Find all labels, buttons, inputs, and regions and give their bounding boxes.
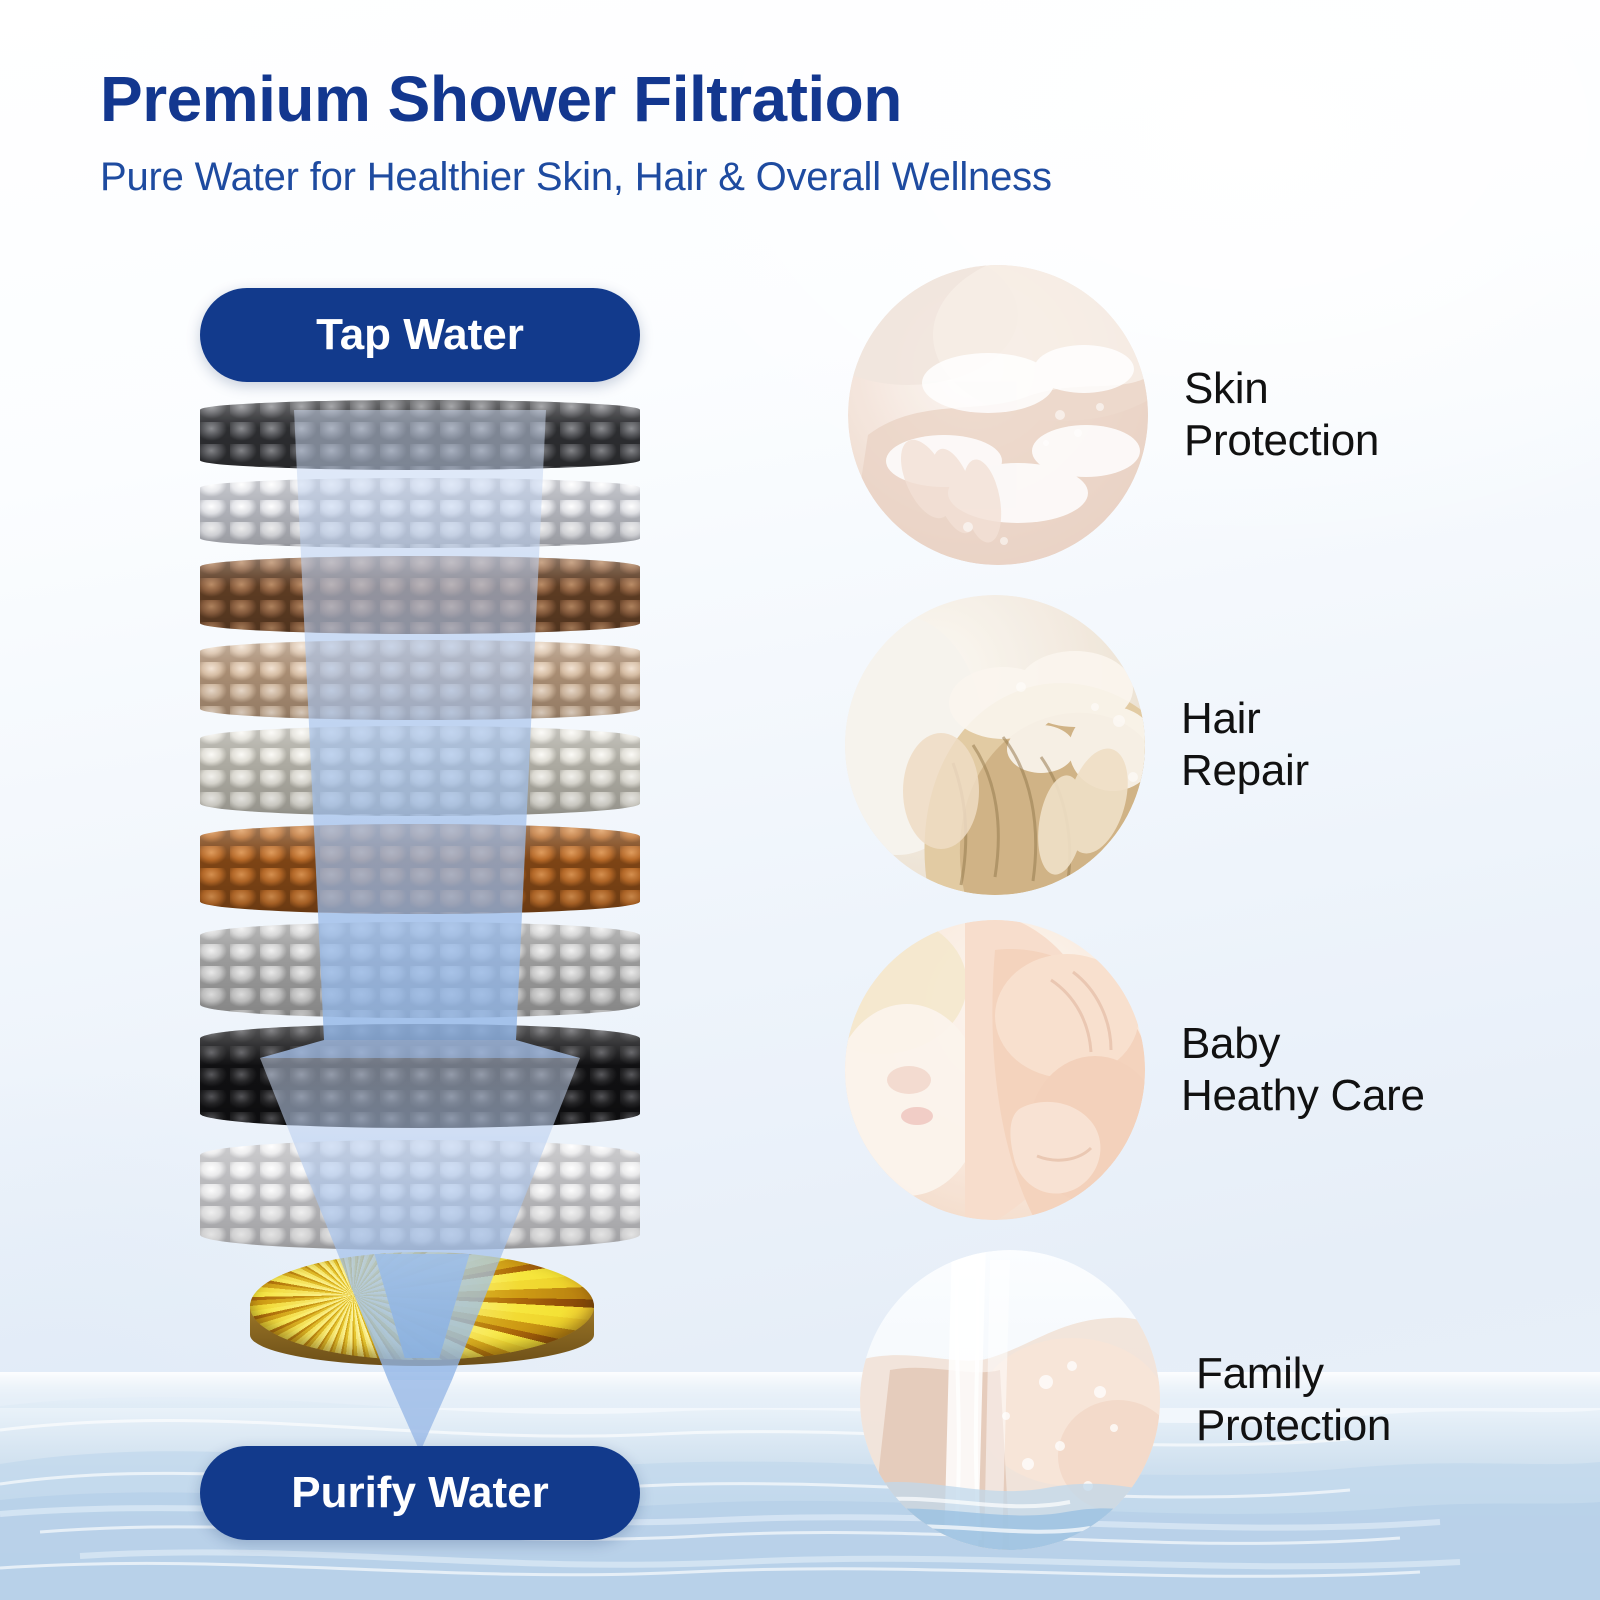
gold-mineral-disc (250, 1252, 594, 1384)
baby-bathing-photo (845, 920, 1145, 1220)
bead-field (200, 726, 640, 816)
feature-skin-protection-label: Skin Protection (1184, 363, 1379, 467)
feature-family-protection[interactable]: Family Protection (860, 1250, 1391, 1550)
page-title: Premium Shower Filtration (100, 66, 1500, 133)
filter-layer-black-carbon-media (200, 1024, 640, 1128)
filter-layer-dark-gray-media (200, 400, 640, 470)
purify-water-badge-label: Purify Water (291, 1468, 549, 1518)
bead-field (200, 1024, 640, 1128)
feature-baby-healthy-care[interactable]: Baby Heathy Care (845, 920, 1425, 1220)
bead-field (200, 1140, 640, 1250)
bead-field (200, 400, 640, 470)
bead-field (200, 478, 640, 548)
feature-skin-protection[interactable]: Skin Protection (848, 265, 1379, 565)
feature-hair-repair-label: Hair Repair (1181, 693, 1309, 797)
bead-field (200, 824, 640, 914)
feature-family-protection-label: Family Protection (1196, 1348, 1391, 1452)
filter-layer-brown-media (200, 556, 640, 634)
foam-hands-graphic (848, 265, 1148, 565)
bead-field (200, 556, 640, 634)
filter-layer-offwhite-media (200, 726, 640, 816)
purify-water-badge[interactable]: Purify Water (200, 1446, 640, 1540)
page-subtitle: Pure Water for Healthier Skin, Hair & Ov… (100, 155, 1500, 199)
filter-layer-white-media (200, 478, 640, 548)
hands-with-foam-photo (848, 265, 1148, 565)
filter-layer-orange-media (200, 824, 640, 914)
running-water-hands-graphic (860, 1250, 1160, 1550)
filter-layer-white-ceramic-media (200, 1140, 640, 1250)
infographic-canvas: Premium Shower Filtration Pure Water for… (0, 0, 1600, 1600)
baby-graphic (845, 920, 1145, 1220)
bead-field (200, 922, 640, 1018)
filter-layer-light-gray-media (200, 922, 640, 1018)
feature-hair-repair[interactable]: Hair Repair (845, 595, 1309, 895)
hair-wash-graphic (845, 595, 1145, 895)
tap-water-badge-label: Tap Water (316, 310, 524, 360)
header: Premium Shower Filtration Pure Water for… (100, 66, 1500, 199)
hair-washing-photo (845, 595, 1145, 895)
hands-under-running-water-photo (860, 1250, 1160, 1550)
feature-baby-healthy-care-label: Baby Heathy Care (1181, 1018, 1425, 1122)
bead-field (200, 640, 640, 720)
tap-water-badge[interactable]: Tap Water (200, 288, 640, 382)
filter-layer-tan-media (200, 640, 640, 720)
